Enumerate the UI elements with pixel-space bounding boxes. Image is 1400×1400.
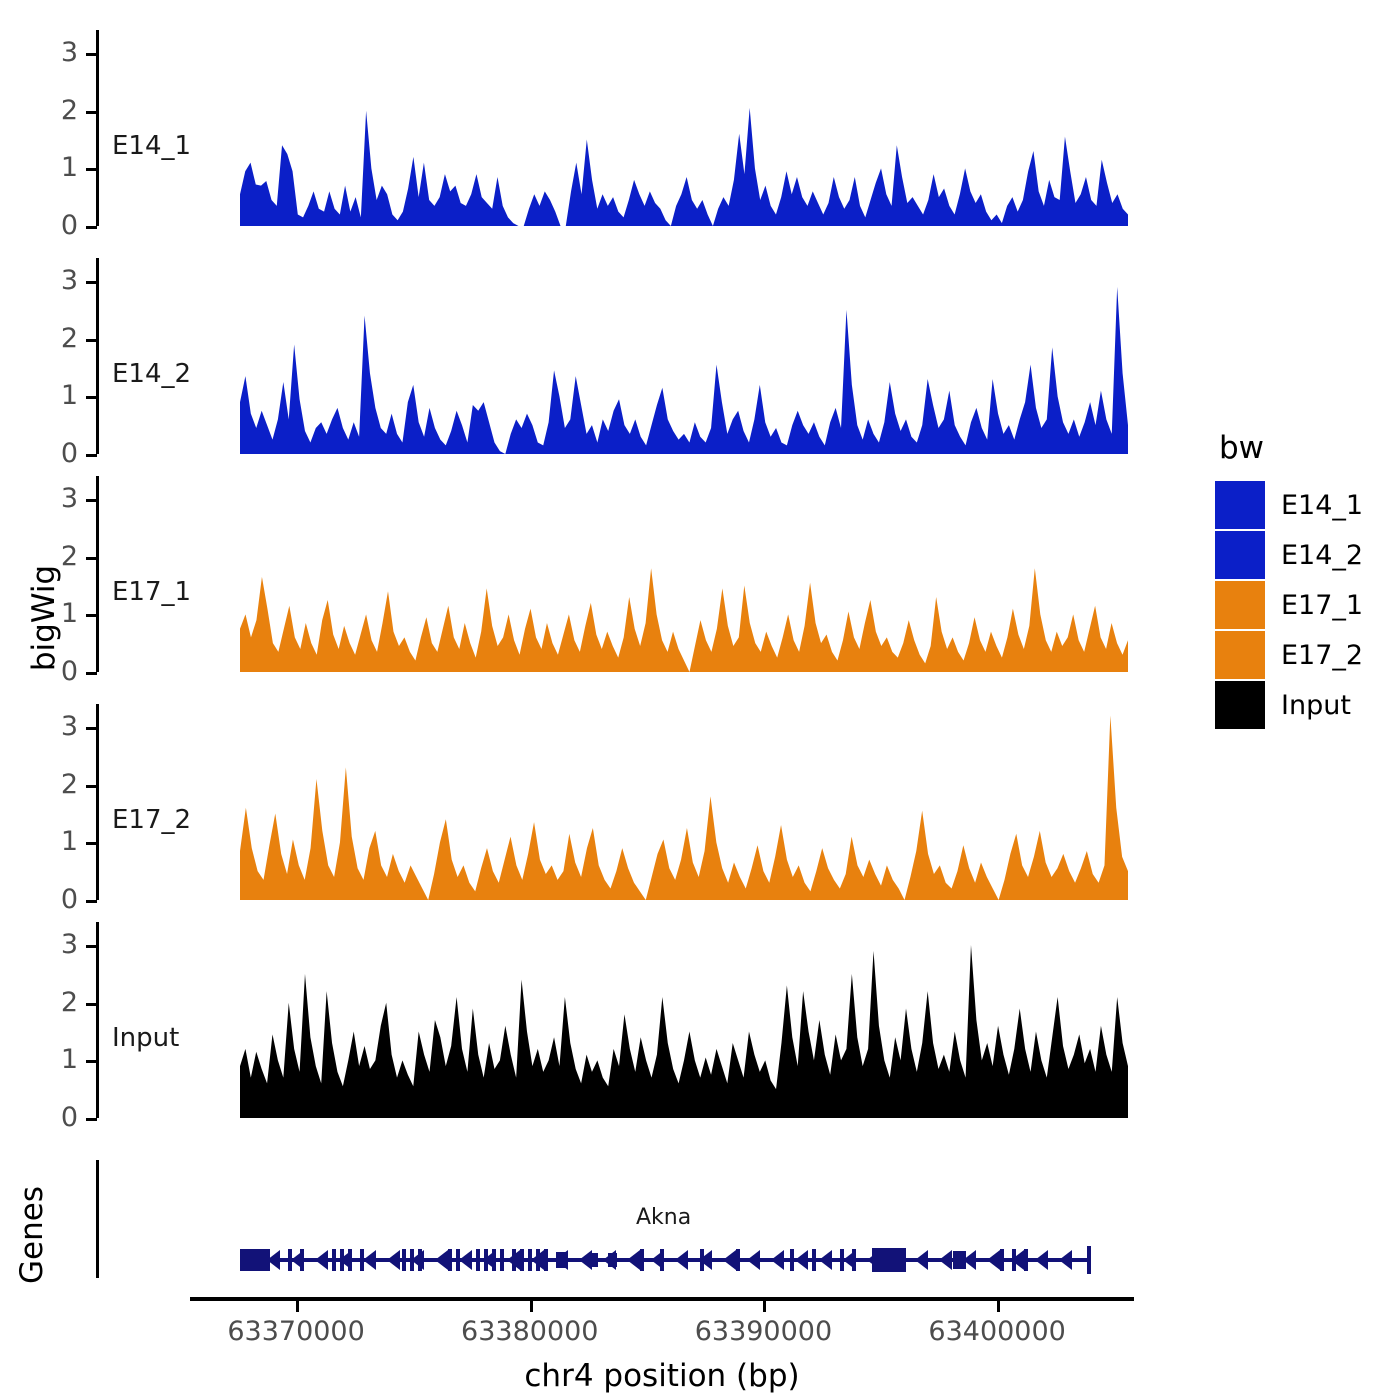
strand-arrow-icon — [987, 1250, 1000, 1270]
strand-arrow-icon — [723, 1250, 736, 1270]
strand-arrow-icon — [291, 1250, 304, 1270]
wiggle-track-e17_1 — [0, 476, 1180, 676]
gene-model[interactable] — [0, 1160, 1180, 1295]
legend-item-e14_2[interactable]: E14_2 — [1215, 530, 1395, 580]
gene-exon-tick — [448, 1249, 452, 1271]
legend-item-e14_1[interactable]: E14_1 — [1215, 480, 1395, 530]
strand-arrow-icon — [915, 1250, 928, 1270]
gene-exon-tick — [402, 1249, 406, 1271]
gene-track-panel — [0, 1160, 1180, 1295]
legend-label: E17_2 — [1281, 640, 1363, 671]
strand-arrow-icon — [1035, 1250, 1048, 1270]
gene-exon-tick — [1000, 1249, 1004, 1271]
legend-swatch-icon — [1215, 631, 1265, 679]
x-axis-title: chr4 position (bp) — [190, 1358, 1134, 1394]
track-panel-e17_2: 0123E17_2 — [0, 704, 1180, 900]
x-tick-label: 63370000 — [227, 1316, 364, 1347]
strand-arrow-icon — [579, 1250, 592, 1270]
strand-arrow-icon — [795, 1250, 808, 1270]
wiggle-track-input — [0, 922, 1180, 1122]
strand-arrow-icon — [459, 1250, 472, 1270]
strand-arrow-icon — [747, 1250, 760, 1270]
legend-swatch-icon — [1215, 581, 1265, 629]
x-tick — [997, 1301, 1000, 1312]
legend-title: bw — [1219, 430, 1395, 466]
legend-swatch-icon — [1215, 481, 1265, 529]
gene-exon-tick — [520, 1249, 524, 1271]
strand-arrow-icon — [435, 1250, 448, 1270]
legend-label: E17_1 — [1281, 590, 1363, 621]
track-panel-input: 0123Input — [0, 922, 1180, 1118]
gene-exon-tick — [736, 1249, 740, 1271]
legend: bw E14_1E14_2E17_1E17_2Input — [1215, 430, 1395, 730]
x-tick-label: 63400000 — [928, 1316, 1065, 1347]
track-panel-e14_1: 0123E14_1 — [0, 30, 1180, 226]
gene-exon — [240, 1249, 270, 1271]
wiggle-track-e14_1 — [0, 30, 1180, 230]
legend-items: E14_1E14_2E17_1E17_2Input — [1215, 480, 1395, 730]
strand-arrow-icon — [939, 1250, 952, 1270]
gene-exon-tick — [1024, 1249, 1028, 1271]
strand-arrow-icon — [675, 1250, 688, 1270]
gene-axis-line — [96, 1160, 99, 1278]
wiggle-track-e14_2 — [0, 258, 1180, 458]
gene-exon-tick — [790, 1249, 794, 1271]
legend-label: E14_2 — [1281, 540, 1363, 571]
x-tick — [296, 1301, 299, 1312]
x-axis-line — [190, 1297, 1134, 1301]
x-tick-label: 63380000 — [461, 1316, 598, 1347]
legend-item-input[interactable]: Input — [1215, 680, 1395, 730]
strand-arrow-icon — [819, 1250, 832, 1270]
strand-arrow-icon — [1059, 1250, 1072, 1270]
gene-exon-tick — [500, 1249, 504, 1271]
track-panel-e17_1: 0123E17_1 — [0, 476, 1180, 672]
x-tick — [763, 1301, 766, 1312]
legend-label: Input — [1281, 690, 1351, 721]
gene-exon-tick — [812, 1249, 816, 1271]
legend-item-e17_2[interactable]: E17_2 — [1215, 630, 1395, 680]
strand-arrow-icon — [771, 1250, 784, 1270]
gene-name-label: Akna — [636, 1205, 691, 1230]
gene-exon-tick — [544, 1249, 548, 1271]
legend-swatch-icon — [1215, 531, 1265, 579]
strand-arrow-icon — [651, 1250, 664, 1270]
wiggle-track-e17_2 — [0, 704, 1180, 904]
gene-exon-tick — [640, 1249, 644, 1271]
strand-arrow-icon — [843, 1250, 856, 1270]
strand-arrow-icon — [363, 1250, 376, 1270]
strand-arrow-icon — [387, 1250, 400, 1270]
track-panel-e14_2: 0123E14_2 — [0, 258, 1180, 454]
gene-end-cap — [1087, 1246, 1091, 1274]
gene-exon-tick — [332, 1249, 336, 1271]
gene-exon-tick — [476, 1249, 480, 1271]
legend-swatch-icon — [1215, 681, 1265, 729]
legend-item-e17_1[interactable]: E17_1 — [1215, 580, 1395, 630]
legend-label: E14_1 — [1281, 490, 1363, 521]
strand-arrow-icon — [315, 1250, 328, 1270]
x-tick-label: 63390000 — [695, 1316, 832, 1347]
x-tick — [530, 1301, 533, 1312]
strand-arrow-icon — [627, 1250, 640, 1270]
